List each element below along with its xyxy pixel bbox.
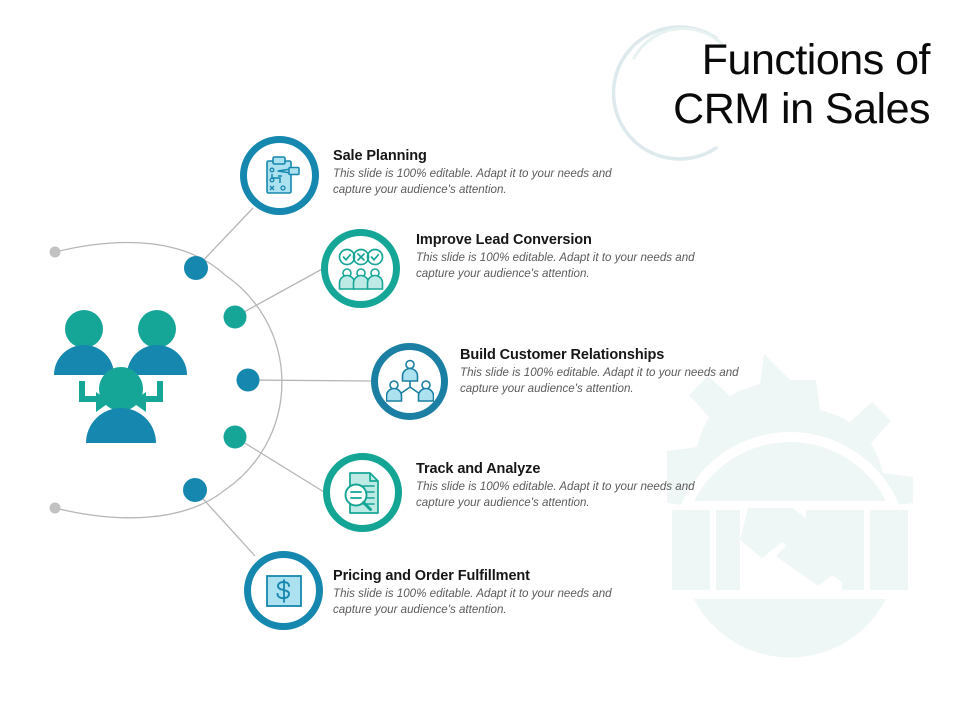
hub-node-5 <box>183 478 207 502</box>
document-magnifier-icon <box>339 469 387 517</box>
page-title-line-1: Functions of <box>560 36 930 85</box>
item-heading: Sale Planning <box>333 148 633 165</box>
item-icon-improve-lead-conversion[interactable] <box>321 229 400 308</box>
item-icon-build-customer-relationships[interactable] <box>371 343 448 420</box>
slide-canvas: Functions of CRM in Sales <box>0 0 960 720</box>
item-heading: Pricing and Order Fulfillment <box>333 568 633 585</box>
team-people-exchange-icon <box>54 310 187 443</box>
item-text-track-and-analyze: Track and Analyze This slide is 100% edi… <box>416 461 716 510</box>
item-text-improve-lead-conversion: Improve Lead Conversion This slide is 10… <box>416 232 716 281</box>
dollar-bill-icon <box>262 569 306 613</box>
item-heading: Track and Analyze <box>416 461 716 478</box>
item-text-sale-planning: Sale Planning This slide is 100% editabl… <box>333 148 633 197</box>
hub-arc <box>55 242 282 517</box>
clipboard-pencil-icon <box>256 152 304 200</box>
item-body: This slide is 100% editable. Adapt it to… <box>416 250 716 281</box>
item-icon-track-and-analyze[interactable] <box>323 453 402 532</box>
three-people-checkmarks-icon <box>336 246 386 292</box>
arc-endpoint-dot-top <box>50 247 61 258</box>
hub-node-4 <box>224 426 247 449</box>
item-text-build-customer-relationships: Build Customer Relationships This slide … <box>460 347 760 396</box>
item-body: This slide is 100% editable. Adapt it to… <box>333 586 633 617</box>
page-title: Functions of CRM in Sales <box>560 36 930 133</box>
item-text-pricing-and-order-fulfillment: Pricing and Order Fulfillment This slide… <box>333 568 633 617</box>
page-title-line-2: CRM in Sales <box>560 85 930 134</box>
item-body: This slide is 100% editable. Adapt it to… <box>460 365 760 396</box>
gear-handshake-watermark-icon <box>580 350 960 720</box>
item-icon-pricing-and-order-fulfillment[interactable] <box>244 551 323 630</box>
hub-node-1 <box>184 256 208 280</box>
item-body: This slide is 100% editable. Adapt it to… <box>333 166 633 197</box>
hub-node-2 <box>224 306 247 329</box>
item-icon-sale-planning[interactable] <box>240 136 319 215</box>
item-heading: Build Customer Relationships <box>460 347 760 364</box>
item-heading: Improve Lead Conversion <box>416 232 716 249</box>
item-body: This slide is 100% editable. Adapt it to… <box>416 479 716 510</box>
arc-endpoint-dot-bottom <box>50 503 61 514</box>
hub-node-3 <box>237 369 260 392</box>
people-network-hierarchy-icon <box>386 359 434 405</box>
